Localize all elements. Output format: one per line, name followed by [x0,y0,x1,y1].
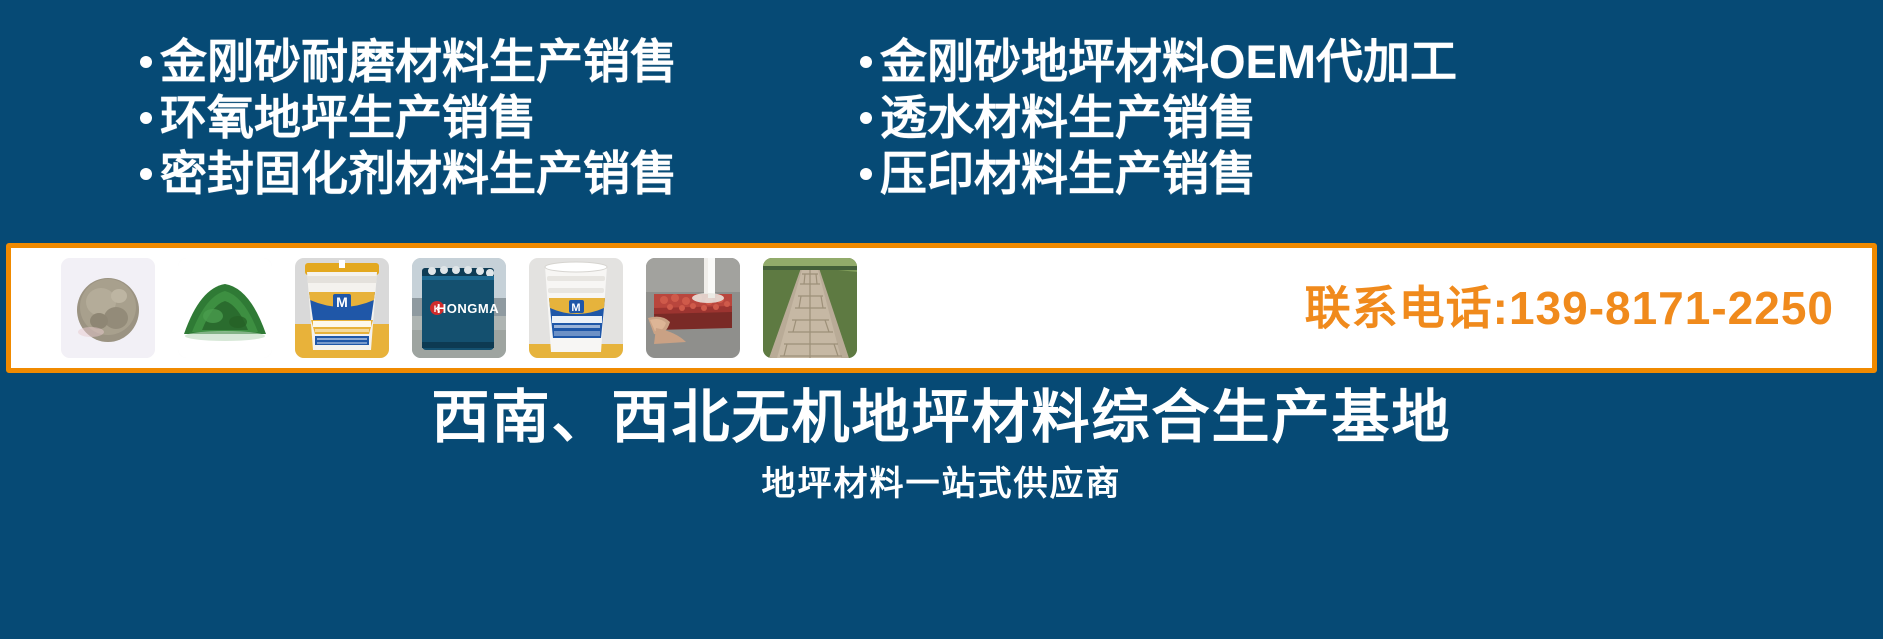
bullet-item-right-2: 透水材料生产销售 [860,90,1760,146]
bullet-dot-icon [140,112,152,124]
epoxy-bucket-icon: M [529,258,623,358]
product-thumb-gray-abrasive-powder [61,258,155,358]
bullet-label: 环氧地坪生产销售 [160,90,536,146]
svg-text:M: M [336,294,348,310]
product-thumb-green-abrasive-powder [178,258,272,358]
bullet-dot-icon [860,168,872,180]
bullet-dot-icon [860,112,872,124]
product-showcase-panel: M [6,243,1877,373]
bullet-dot-icon [860,56,872,68]
svg-text:M: M [571,302,580,314]
stamped-concrete-path-icon [763,258,857,358]
bullet-column-right: 金刚砂地坪材料OEM代加工 透水材料生产销售 压印材料生产销售 [860,34,1760,230]
bullet-item-left-3: 密封固化剂材料生产销售 [140,146,860,202]
service-bullet-lists: 金刚砂耐磨材料生产销售 环氧地坪生产销售 密封固化剂材料生产销售 金刚砂地坪材料… [0,34,1883,230]
bullet-label: 金刚砂地坪材料OEM代加工 [880,34,1457,90]
advertising-banner: 金刚砂耐磨材料生产销售 环氧地坪生产销售 密封固化剂材料生产销售 金刚砂地坪材料… [0,0,1883,639]
footer-headline: 西南、西北无机地坪材料综合生产基地 [0,383,1883,453]
product-thumb-red-permeable-concrete-sample [646,258,740,358]
bullet-label: 透水材料生产销售 [880,90,1256,146]
product-thumb-sealer-bucket-yellow: M [295,258,389,358]
bullet-label: 压印材料生产销售 [880,146,1256,202]
svg-text:HONGMA: HONGMA [437,301,499,316]
product-thumbnail-strip: M [61,258,857,358]
gray-abrasive-powder-icon [61,258,155,358]
bullet-dot-icon [140,56,152,68]
bullet-label: 密封固化剂材料生产销售 [160,146,677,202]
permeable-concrete-sample-icon [646,258,740,358]
product-thumb-epoxy-coating-bucket: M [529,258,623,358]
bullet-column-left: 金刚砂耐磨材料生产销售 环氧地坪生产销售 密封固化剂材料生产销售 [140,34,860,230]
bullet-item-left-2: 环氧地坪生产销售 [140,90,860,146]
product-thumb-stamped-concrete-path [763,258,857,358]
bullet-dot-icon [140,168,152,180]
bullet-item-right-1: 金刚砂地坪材料OEM代加工 [860,34,1760,90]
footer-subline: 地坪材料一站式供应商 [0,462,1883,506]
bullet-label: 金刚砂耐磨材料生产销售 [160,34,677,90]
sealer-bucket-icon: M [295,258,389,358]
product-thumb-hongma-blue-drum: K HONGMA [412,258,506,358]
contact-phone-number[interactable]: 联系电话:139-8171-2250 [1305,285,1834,331]
bullet-item-right-3: 压印材料生产销售 [860,146,1760,202]
hongma-drum-icon: K HONGMA [412,258,506,358]
green-abrasive-powder-icon [178,258,272,358]
bullet-item-left-1: 金刚砂耐磨材料生产销售 [140,34,860,90]
